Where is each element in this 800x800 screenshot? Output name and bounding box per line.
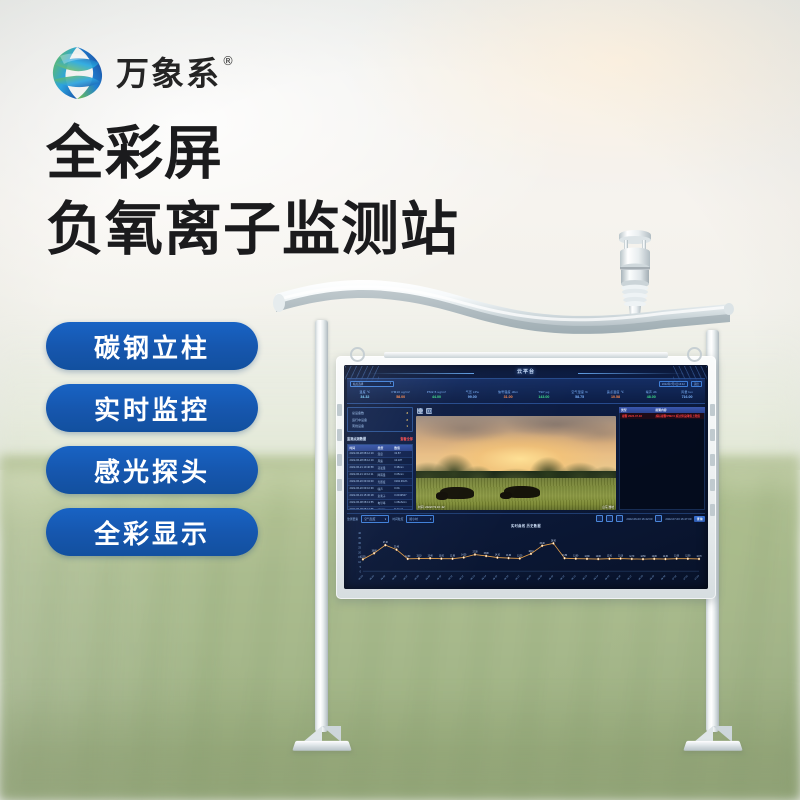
product-banner: 万象系 ® 全彩屏 负氧离子监测站 碳钢立柱 实时监控 感光探头 全彩显示: [0, 0, 800, 800]
chart-element-label: 监测要素: [347, 517, 358, 521]
metrics-strip: 站点选择 ▾ 2022年7月3日16:42 退出 温度 ℃34.32PM10 u…: [347, 378, 705, 404]
svg-text:13.20: 13.20: [517, 555, 523, 557]
svg-text:40: 40: [358, 531, 361, 535]
svg-text:12.80: 12.80: [652, 556, 658, 558]
feature-pill-realtime-monitoring[interactable]: 实时监控: [46, 384, 258, 432]
svg-text:15.80: 15.80: [484, 553, 490, 555]
metric-value: 48.00: [647, 395, 656, 399]
chart-panel: 监测要素 空气温度 ▾ 时间粒度 按小时 ▾ 2022-06-03 16:42:…: [347, 513, 705, 586]
svg-text:06-06: 06-06: [392, 575, 397, 581]
feature-pill-list: 碳钢立柱 实时监控 感光探头 全彩显示: [46, 322, 258, 556]
base-plate-left: [294, 726, 350, 752]
headline-line-1: 全彩屏: [46, 124, 223, 182]
svg-text:14.20: 14.20: [461, 554, 467, 556]
chart-controls: 监测要素 空气温度 ▾ 时间粒度 按小时 ▾ 2022-06-03 16:42:…: [347, 514, 705, 523]
table-cell: 2022-06-19 15:36:18: [348, 493, 376, 499]
svg-text:07-02: 07-02: [683, 575, 688, 581]
metric-cell-8: 噪声 db48.00: [633, 387, 669, 402]
svg-text:10: 10: [358, 560, 361, 564]
metric-value: 716.00: [682, 395, 693, 399]
chart-date-end[interactable]: 2022-07-03 16:47:00: [665, 517, 691, 521]
table-cell: 1.08uS/cm: [393, 500, 412, 506]
metric-cell-0: 温度 ℃34.32: [347, 387, 383, 402]
svg-text:06-23: 06-23: [583, 575, 588, 581]
table-cell: 温度: [376, 451, 393, 457]
metric-cell-4: 信号强度 dbm31.00: [490, 387, 526, 402]
svg-text:22.40: 22.40: [394, 547, 400, 549]
table-row[interactable]: 2022-06-20 09:10:39噪声0.6lx: [348, 486, 412, 493]
table-row[interactable]: 2022-06-28 08:12:19温度32.87: [348, 451, 412, 458]
metric-label: PM2.5 ug/m³: [427, 390, 446, 394]
svg-text:06-07: 06-07: [403, 575, 408, 581]
svg-text:12.90: 12.90: [607, 556, 613, 558]
svg-text:0: 0: [360, 569, 362, 573]
table-cell: 0192.36x%: [393, 479, 412, 485]
monitor-table-header: 监测点测数据 查看全部: [347, 436, 413, 441]
svg-text:12.50: 12.50: [641, 556, 647, 558]
alarm-row[interactable]: 报警 2022-07-03超标报警!PM2.5 超过预设阈值上限值: [620, 413, 704, 419]
metric-label: 气压 kPa: [466, 390, 479, 394]
metric-value: 143.00: [538, 395, 549, 399]
metric-value: 31.00: [504, 395, 513, 399]
metric-value: 58.75: [575, 395, 584, 399]
chevron-down-icon: ▾: [390, 382, 391, 385]
svg-text:06-14: 06-14: [482, 575, 487, 581]
table-row[interactable]: 2022-06-28 08:12:19风速10.187: [348, 458, 412, 465]
alarm-cell: 超标报警!PM2.5 超过预设阈值上限值: [654, 413, 704, 419]
video-timestamp: 时间: 2022/7/3 16: 42: [418, 505, 445, 509]
svg-text:12.90: 12.90: [450, 556, 456, 558]
device-stat-label: 总设备数: [352, 411, 364, 415]
metric-label: TSP μg: [538, 390, 549, 394]
table-cell: 2022-06-08 08:13:55: [348, 507, 376, 510]
table-row[interactable]: 2022-06-08 08:13:55电导率1.08uS/cm: [348, 500, 412, 507]
table-cell: 噪声: [376, 486, 393, 492]
svg-text:5: 5: [360, 565, 362, 569]
chart-date-start[interactable]: 2022-06-03 16:42:00: [626, 517, 652, 521]
table-body: 2022-06-28 08:12:19温度32.872022-06-28 08:…: [348, 451, 412, 510]
svg-text:13.00: 13.00: [573, 556, 579, 558]
svg-text:06-30: 06-30: [661, 575, 666, 581]
hanger-ring-left: [350, 347, 365, 362]
table-cell: 32.87: [393, 451, 412, 457]
metrics-grid: 温度 ℃34.32PM10 ug/m³58.00PM2.5 ug/m³44.00…: [347, 387, 705, 402]
svg-text:06-21: 06-21: [560, 575, 565, 581]
table-row[interactable]: 2022-06-20 09:04:00光照度0192.36x%: [348, 479, 412, 486]
carbon-steel-post-left: [315, 320, 328, 732]
svg-text:13.10: 13.10: [618, 555, 624, 557]
svg-text:06-10: 06-10: [437, 575, 442, 581]
svg-text:35: 35: [358, 536, 361, 540]
table-cell: 溶解氧: [376, 507, 393, 510]
metric-cell-3: 气压 kPa99.00: [454, 387, 490, 402]
video-panel: 时间: 2022/7/3 16: 42 山东 潍坊: [416, 407, 616, 510]
table-row[interactable]: 2022-06-21 10:12:11降雨量0.05mm: [348, 472, 412, 479]
svg-text:06-29: 06-29: [650, 575, 655, 581]
svg-text:17.30: 17.30: [472, 551, 478, 553]
svg-text:13.40: 13.40: [428, 555, 434, 557]
chevron-down-icon-2: ▾: [385, 517, 386, 521]
hanger-ring-right: [687, 347, 702, 362]
table-cell: 2022-06-20 09:10:39: [348, 486, 376, 492]
svg-text:26.40: 26.40: [540, 543, 546, 545]
svg-text:06-13: 06-13: [471, 575, 476, 581]
metric-value: 10.58: [611, 395, 620, 399]
vent-slots-right: [710, 404, 715, 516]
metric-value: 34.32: [360, 395, 369, 399]
base-plate-right: [685, 726, 741, 752]
metric-label: 信号强度 dbm: [498, 390, 518, 394]
svg-text:13.00: 13.00: [439, 556, 445, 558]
camera-feed[interactable]: 时间: 2022/7/3 16: 42 山东 潍坊: [416, 416, 616, 510]
svg-text:20: 20: [358, 550, 361, 554]
table-cell: 8.4mg/L: [393, 507, 412, 510]
chart-element-value: 空气温度: [364, 517, 375, 521]
chart-element-select[interactable]: 空气温度 ▾: [361, 515, 389, 523]
table-cell: 2022-06-28 08:12:19: [348, 458, 376, 464]
device-stat-row-0: 总设备数3: [352, 411, 408, 415]
video-toolbar: [416, 407, 616, 414]
table-cell: 降雨量: [376, 472, 393, 478]
device-stats-box: 总设备数3运行中设备2离线设备1: [347, 407, 413, 432]
dashboard-screen[interactable]: 云平台 站点选择 ▾ 2022年7月3日16:42 退出 温度 ℃34.32PM…: [344, 365, 708, 589]
svg-text:06-15: 06-15: [493, 575, 498, 581]
svg-text:06-25: 06-25: [605, 575, 610, 581]
table-cell: 0.6lx: [393, 486, 412, 492]
device-stat-label: 离线设备: [352, 424, 364, 428]
monitor-data-table[interactable]: 时间 类型 数值 2022-06-28 08:12:19温度32.872022-…: [347, 444, 413, 510]
table-cell: 风速: [376, 458, 393, 464]
table-cell: 2022-06-28 08:12:19: [348, 451, 376, 457]
svg-text:14.10: 14.10: [495, 555, 501, 557]
header-datetime: 2022年7月3日16:42: [659, 381, 688, 387]
feature-pill-light-sensor-probe[interactable]: 感光探头: [46, 446, 258, 494]
mount-clip-3: [554, 352, 668, 358]
metric-label: 噪声 db: [646, 390, 657, 394]
svg-text:06-22: 06-22: [571, 575, 576, 581]
calendar-icon-2[interactable]: [655, 515, 662, 522]
table-cell: 光照度: [376, 479, 393, 485]
svg-text:06-03: 06-03: [359, 575, 364, 581]
svg-text:06-09: 06-09: [426, 575, 431, 581]
device-stat-value: 1: [406, 424, 408, 428]
device-stat-value: 3: [406, 411, 408, 415]
dashboard-title-bar: 云平台: [344, 365, 708, 378]
alarm-list[interactable]: 报警 2022-07-03超标报警!PM2.5 超过预设阈值上限值: [619, 413, 705, 510]
dashboard-middle: 总设备数3运行中设备2离线设备1 监测点测数据 查看全部 时间 类型 数值 20…: [344, 404, 708, 513]
chart-granularity-label: 时间粒度: [392, 517, 403, 521]
table-cell: 2022-06-21 10:12:11: [348, 472, 376, 478]
brand-lockup: 万象系 ®: [48, 44, 221, 102]
vent-slots-left: [337, 404, 342, 491]
svg-text:28.90: 28.90: [551, 540, 557, 542]
svg-text:13.00: 13.00: [674, 556, 680, 558]
chart-granularity-select[interactable]: 按小时 ▾: [406, 515, 434, 523]
fullscreen-icon[interactable]: [417, 408, 423, 414]
metric-label: 露点温度 ℃: [607, 390, 624, 394]
svg-text:12.70: 12.70: [697, 556, 703, 558]
table-cell: 蒸发量: [376, 465, 393, 471]
device-stat-row-2: 离线设备1: [352, 424, 408, 428]
svg-text:27.10: 27.10: [383, 542, 389, 544]
monitor-table-title: 监测点测数据: [347, 436, 366, 441]
metric-value: 58.00: [396, 395, 405, 399]
chart-granularity-value: 按小时: [409, 517, 417, 521]
chart-plot-area: 403530252015105012.3006-0318.6006-0427.1…: [347, 529, 705, 586]
chart-view-line-icon[interactable]: [596, 515, 603, 522]
table-cell: 0.05mm: [393, 472, 412, 478]
table-cell: 10.187: [393, 458, 412, 464]
svg-text:18.60: 18.60: [372, 550, 378, 552]
svg-text:30: 30: [358, 540, 361, 544]
metric-cell-1: PM10 ug/m³58.00: [383, 387, 419, 402]
metric-value: 44.00: [432, 395, 441, 399]
table-row[interactable]: 2022-06-08 08:13:55溶解氧8.4mg/L: [348, 507, 412, 510]
svg-text:13.10: 13.10: [416, 555, 422, 557]
s-curved-canopy: [272, 278, 734, 342]
logout-button[interactable]: 退出: [691, 381, 702, 387]
metric-cell-9: 风量 lux716.00: [669, 387, 705, 402]
svg-text:06-18: 06-18: [527, 575, 532, 581]
svg-text:06-17: 06-17: [515, 575, 520, 581]
svg-text:06-05: 06-05: [381, 575, 386, 581]
brand-name: 万象系 ®: [116, 57, 221, 90]
table-row[interactable]: 2022-06-21 10:40:58蒸发量0.38mm: [348, 465, 412, 472]
metric-cell-5: TSP μg143.00: [526, 387, 562, 402]
chevron-down-icon-3: ▾: [430, 517, 431, 521]
svg-text:25: 25: [358, 545, 361, 549]
svg-text:06-28: 06-28: [639, 575, 644, 581]
alarm-panel: 类型 报警内容 报警 2022-07-03超标报警!PM2.5 超过预设阈值上限…: [619, 407, 705, 510]
table-cell: 电导率: [376, 500, 393, 506]
metric-label: 温度 ℃: [359, 390, 370, 394]
video-location: 山东 潍坊: [602, 505, 614, 509]
globe-swirl-logo-icon: [48, 44, 106, 102]
brand-name-text: 万象系: [116, 54, 221, 93]
svg-text:07-01: 07-01: [672, 575, 677, 581]
svg-text:12.80: 12.80: [585, 556, 591, 558]
svg-text:06-19: 06-19: [538, 575, 543, 581]
metric-cell-2: PM2.5 ug/m³44.00: [419, 387, 455, 402]
snapshot-icon[interactable]: [426, 408, 432, 414]
svg-text:12.60: 12.60: [663, 556, 669, 558]
svg-text:06-24: 06-24: [594, 575, 599, 581]
svg-text:06-04: 06-04: [370, 575, 375, 581]
device-stat-value: 2: [406, 418, 408, 422]
metric-label: PM10 ug/m³: [392, 390, 410, 394]
table-cell: 负离子: [376, 493, 393, 499]
table-cell: 0.38mm: [393, 465, 412, 471]
trademark-symbol: ®: [222, 55, 236, 67]
cattle-silhouette-1: [440, 487, 474, 499]
table-cell: 2022-06-08 08:13:55: [348, 500, 376, 506]
table-cell: 0.0019547: [393, 493, 412, 499]
device-stat-row-1: 运行中设备2: [352, 418, 408, 422]
svg-text:06-27: 06-27: [627, 575, 632, 581]
svg-text:06-08: 06-08: [415, 575, 420, 581]
view-all-alarms-link[interactable]: 查看全部: [400, 436, 413, 441]
svg-text:12.70: 12.70: [629, 556, 635, 558]
calendar-icon[interactable]: [616, 515, 623, 522]
svg-text:07-03: 07-03: [695, 575, 700, 581]
station-select[interactable]: 站点选择 ▾: [350, 381, 394, 387]
svg-text:12.60: 12.60: [596, 556, 602, 558]
chart-query-button[interactable]: 查询: [694, 516, 705, 522]
alarm-cell: 报警 2022-07-03: [620, 413, 654, 419]
header-right-chips: 2022年7月3日16:42 退出: [659, 381, 702, 387]
svg-text:13.60: 13.60: [506, 555, 512, 557]
svg-text:12.30: 12.30: [360, 556, 366, 558]
metric-value: 99.00: [468, 395, 477, 399]
metric-label: 风量 lux: [681, 390, 693, 394]
svg-text:18.10: 18.10: [528, 551, 534, 553]
svg-text:13.50: 13.50: [562, 555, 568, 557]
device-stat-label: 运行中设备: [352, 418, 367, 422]
chart-view-table-icon[interactable]: [606, 515, 613, 522]
table-row[interactable]: 2022-06-19 15:36:18负离子0.0019547: [348, 493, 412, 500]
cattle-silhouette-2: [504, 486, 540, 498]
svg-text:12.90: 12.90: [685, 556, 691, 558]
svg-text:06-12: 06-12: [459, 575, 464, 581]
svg-text:06-26: 06-26: [616, 575, 621, 581]
svg-text:06-20: 06-20: [549, 575, 554, 581]
feature-pill-carbon-steel-post[interactable]: 碳钢立柱: [46, 322, 258, 370]
svg-text:12.80: 12.80: [405, 556, 411, 558]
metric-cell-7: 露点温度 ℃10.58: [598, 387, 634, 402]
station-select-value: 站点选择: [353, 382, 363, 386]
metric-cell-6: 空气湿度 %58.75: [562, 387, 598, 402]
svg-text:06-16: 06-16: [504, 575, 509, 581]
dashboard-title: 云平台: [517, 368, 535, 375]
led-display-cabinet: 云平台 站点选择 ▾ 2022年7月3日16:42 退出 温度 ℃34.32PM…: [336, 356, 716, 599]
feature-pill-full-color-display[interactable]: 全彩显示: [46, 508, 258, 556]
table-cell: 2022-06-20 09:04:00: [348, 479, 376, 485]
headline-line-2: 负氧离子监测站: [46, 200, 459, 258]
metric-label: 空气湿度 %: [571, 390, 588, 394]
svg-text:06-11: 06-11: [448, 575, 453, 581]
table-cell: 2022-06-21 10:40:58: [348, 465, 376, 471]
left-panel: 总设备数3运行中设备2离线设备1 监测点测数据 查看全部 时间 类型 数值 20…: [347, 407, 413, 510]
